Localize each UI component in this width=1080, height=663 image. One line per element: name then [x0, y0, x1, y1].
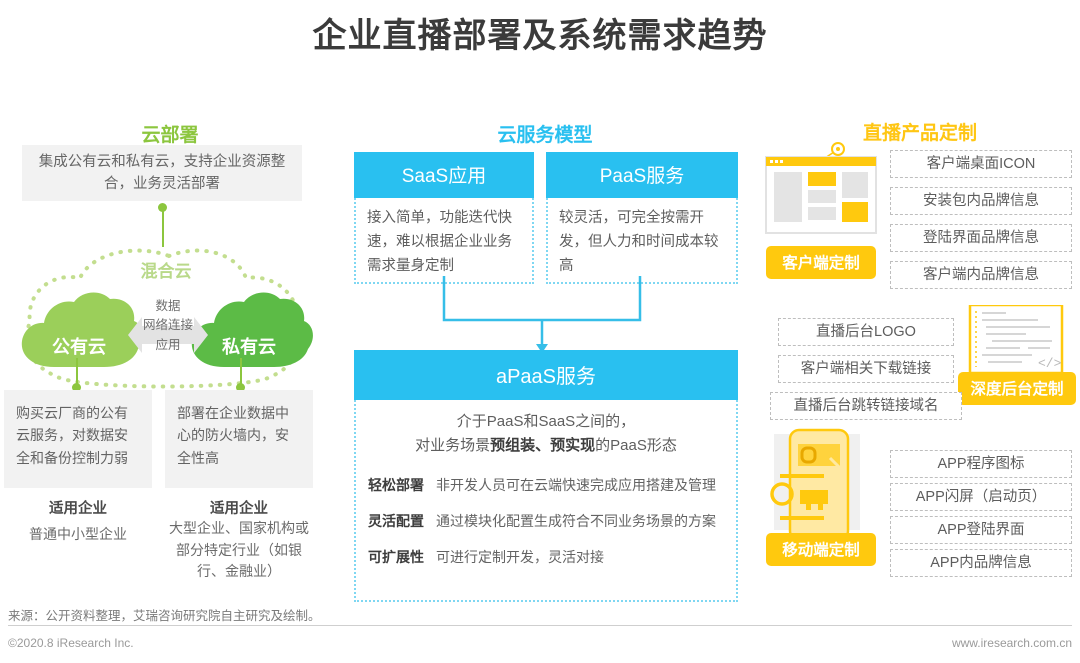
apaas-feature-row: 可扩展性 可进行定制开发，灵活对接	[368, 546, 724, 569]
private-apply-title: 适用企业	[165, 497, 313, 518]
public-apply-title: 适用企业	[4, 497, 152, 518]
cloud-link-arrow-group: 数据 网络连接 应用	[128, 297, 208, 373]
custom-item-client-2: 登陆界面品牌信息	[890, 224, 1072, 252]
private-cloud-label: 私有云	[196, 333, 302, 359]
page-title: 企业直播部署及系统需求趋势	[0, 8, 1080, 57]
custom-item-backend-0: 直播后台LOGO	[778, 318, 954, 346]
apaas-feature-list: 轻松部署 非开发人员可在云端快速完成应用搭建及管理 灵活配置 通过模块化配置生成…	[368, 474, 724, 569]
apaas-card: aPaaS服务 介于PaaS和SaaS之间的， 对业务场景预组装、预实现的Paa…	[354, 350, 738, 602]
apaas-intro: 介于PaaS和SaaS之间的， 对业务场景预组装、预实现的PaaS形态	[368, 410, 724, 458]
apaas-intro-highlight: 预组装、预实现	[490, 437, 595, 454]
footer-divider	[8, 625, 1072, 626]
private-cloud-detail-box: 部署在企业数据中心的防火墙内，安全性高	[165, 390, 313, 488]
custom-item-client-3: 客户端内品牌信息	[890, 261, 1072, 289]
apaas-title: aPaaS服务	[354, 350, 738, 400]
custom-item-mobile-3: APP内品牌信息	[890, 549, 1072, 577]
code-symbol: </>	[1038, 356, 1062, 371]
infographic-page: 企业直播部署及系统需求趋势 云部署 集成公有云和私有云，支持企业资源整合，业务灵…	[0, 0, 1080, 663]
browser-window-icon	[762, 140, 882, 250]
public-cloud-detail-box: 购买云厂商的公有云服务，对数据安全和备份控制力弱	[4, 390, 152, 488]
apaas-feature-value: 非开发人员可在云端快速完成应用搭建及管理	[436, 474, 716, 497]
section-header-cloud-service-model: 云服务模型	[420, 120, 670, 147]
apaas-feature-value: 通过模块化配置生成符合不同业务场景的方案	[436, 510, 716, 533]
apaas-feature-row: 灵活配置 通过模块化配置生成符合不同业务场景的方案	[368, 510, 724, 533]
public-cloud-detail-text: 购买云厂商的公有云服务，对数据安全和备份控制力弱	[16, 405, 128, 466]
website-text: www.iresearch.com.cn	[952, 636, 1072, 650]
apaas-feature-key: 轻松部署	[368, 474, 436, 497]
connector-stem-private	[240, 358, 242, 386]
arrow-label-app: 应用	[155, 338, 180, 352]
source-note: 来源：公开资料整理，艾瑞咨询研究院自主研究及绘制。	[8, 605, 321, 624]
hybrid-cloud-group: 混合云 公有云 私有云 数据 网络连接 应用	[18, 245, 314, 395]
paas-body: 较灵活，可完全按需开发，但人力和时间成本较高	[546, 198, 738, 284]
custom-item-backend-2: 直播后台跳转链接域名	[770, 392, 962, 420]
custom-item-mobile-0: APP程序图标	[890, 450, 1072, 478]
cloud-link-arrow-labels: 数据 网络连接 应用	[128, 297, 208, 355]
private-apply-body: 大型企业、国家机构或部分特定行业（如银行、金融业）	[163, 518, 315, 583]
arrow-label-data: 数据	[155, 299, 180, 313]
apaas-feature-value: 可进行定制开发，灵活对接	[436, 546, 604, 569]
apaas-intro-line1: 介于PaaS和SaaS之间的，	[457, 413, 635, 430]
badge-mobile-customization: 移动端定制	[766, 533, 876, 566]
saas-card: SaaS应用 接入简单，功能迭代快速，难以根据企业业务需求量身定制	[354, 152, 534, 284]
copyright-text: ©2020.8 iResearch Inc.	[8, 636, 134, 650]
custom-item-client-0: 客户端桌面ICON	[890, 150, 1072, 178]
hybrid-cloud-label: 混合云	[18, 257, 314, 282]
custom-item-mobile-1: APP闪屏（启动页）	[890, 483, 1072, 511]
apaas-body: 介于PaaS和SaaS之间的， 对业务场景预组装、预实现的PaaS形态 轻松部署…	[354, 400, 738, 602]
custom-item-mobile-2: APP登陆界面	[890, 516, 1072, 544]
apaas-feature-row: 轻松部署 非开发人员可在云端快速完成应用搭建及管理	[368, 474, 724, 497]
cloud-deployment-description: 集成公有云和私有云，支持企业资源整合，业务灵活部署	[22, 145, 302, 201]
custom-item-backend-1: 客户端相关下载链接	[778, 355, 954, 383]
arrow-label-network: 网络连接	[143, 318, 193, 332]
connector-stem-public	[76, 358, 78, 386]
top-bar	[0, 0, 1080, 3]
private-cloud-detail-text: 部署在企业数据中心的防火墙内，安全性高	[177, 405, 289, 466]
saas-title: SaaS应用	[354, 152, 534, 198]
mobile-lock-icon	[766, 428, 878, 546]
apaas-intro-line2-pre: 对业务场景	[415, 437, 490, 454]
apaas-intro-line2-post: 的PaaS形态	[595, 437, 677, 454]
public-cloud-label: 公有云	[26, 333, 132, 359]
bracket-connector-icon	[350, 276, 750, 356]
paas-card: PaaS服务 较灵活，可完全按需开发，但人力和时间成本较高	[546, 152, 738, 284]
custom-item-client-1: 安装包内品牌信息	[890, 187, 1072, 215]
paas-title: PaaS服务	[546, 152, 738, 198]
saas-body: 接入简单，功能迭代快速，难以根据企业业务需求量身定制	[354, 198, 534, 284]
badge-client-customization: 客户端定制	[766, 246, 876, 279]
section-header-cloud-deployment: 云部署	[60, 120, 280, 147]
public-apply-body: 普通中小型企业	[2, 524, 154, 546]
badge-backend-customization: 深度后台定制	[958, 372, 1076, 405]
apaas-feature-key: 灵活配置	[368, 510, 436, 533]
apaas-feature-key: 可扩展性	[368, 546, 436, 569]
